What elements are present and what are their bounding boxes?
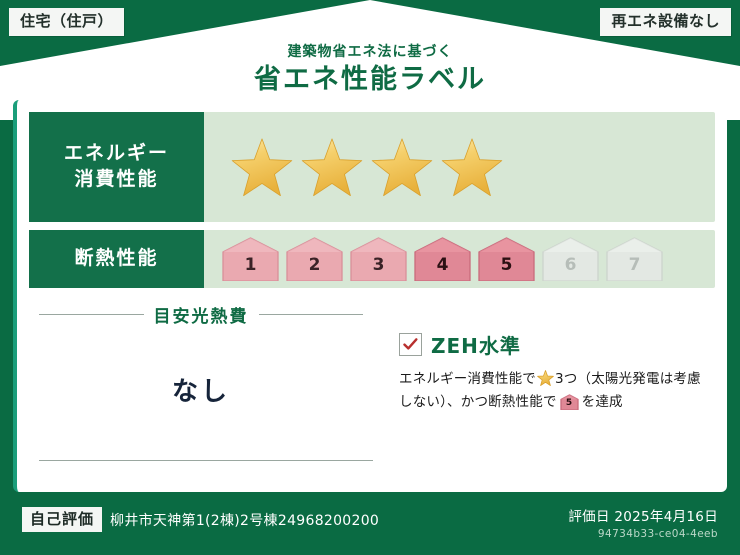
zeh-title: ZEH水準 <box>431 330 521 359</box>
label-footer: 自己評価 柳井市天神第1(2棟)2号棟24968200200 評価日 2025年… <box>0 495 740 555</box>
zeh-header: ZEH水準 <box>399 330 713 359</box>
insulation-performance-label-box: 断熱性能 <box>29 230 204 288</box>
inline-house-number: 5 <box>560 394 579 410</box>
rule-left <box>39 314 144 315</box>
insulation-level-number: 5 <box>501 257 513 281</box>
insulation-performance-row: 断熱性能 1234567 <box>29 230 715 288</box>
footer-left-group: 自己評価 柳井市天神第1(2棟)2号棟24968200200 <box>22 507 379 532</box>
building-type-tag: 住宅（住戸） <box>9 8 124 36</box>
insulation-level-6: 6 <box>542 237 599 281</box>
insulation-performance-value: 1234567 <box>204 230 715 288</box>
insulation-level-number: 6 <box>565 257 577 281</box>
label-heading: 建築物省エネ法に基づく 省エネ性能ラベル <box>0 44 740 95</box>
zeh-description: エネルギー消費性能で3つ（太陽光発電は考慮しない）、かつ断熱性能で5を達成 <box>399 368 713 414</box>
insulation-label-text: 断熱性能 <box>74 246 158 272</box>
insulation-level-scale: 1234567 <box>204 237 663 281</box>
zeh-desc-part4: を達成 <box>582 394 623 410</box>
heading-title: 省エネ性能ラベル <box>0 64 740 95</box>
utility-cost-header: 目安光熱費 <box>17 302 385 327</box>
insulation-level-7: 7 <box>606 237 663 281</box>
zeh-checkbox <box>399 333 422 356</box>
insulation-level-3: 3 <box>350 237 407 281</box>
heading-subtitle: 建築物省エネ法に基づく <box>0 44 740 61</box>
evaluation-id: 94734b33-ce04-4eeb <box>568 528 718 540</box>
insulation-level-1: 1 <box>222 237 279 281</box>
self-evaluation-badge: 自己評価 <box>22 507 102 532</box>
building-name-text: 柳井市天神第1(2棟)2号棟24968200200 <box>110 510 379 530</box>
star-icon <box>370 137 434 198</box>
label-card: エネルギー 消費性能 断熱性能 1234567 目安光熱費 <box>13 100 727 492</box>
insulation-level-2: 2 <box>286 237 343 281</box>
energy-performance-row: エネルギー 消費性能 <box>29 112 715 222</box>
energy-performance-label-box: エネルギー 消費性能 <box>29 112 204 222</box>
star-icon <box>440 137 504 198</box>
utility-cost-title: 目安光熱費 <box>154 302 249 327</box>
energy-label-line2: 消費性能 <box>74 167 158 193</box>
zeh-section: ZEH水準 エネルギー消費性能で3つ（太陽光発電は考慮しない）、かつ断熱性能で5… <box>385 298 727 486</box>
inline-star-icon <box>537 370 554 387</box>
utility-cost-section: 目安光熱費 なし <box>17 298 385 486</box>
insulation-level-4: 4 <box>414 237 471 281</box>
insulation-level-number: 4 <box>437 257 449 281</box>
insulation-level-number: 3 <box>373 257 385 281</box>
utility-cost-value: なし <box>17 371 385 408</box>
zeh-desc-part2: 3つ（太陽光発電 <box>555 371 660 387</box>
zeh-desc-part1: エネルギー消費性能で <box>399 371 536 387</box>
energy-performance-value <box>204 112 715 222</box>
check-icon <box>403 338 418 351</box>
rule-right <box>259 314 364 315</box>
insulation-level-number: 2 <box>309 257 321 281</box>
star-rating <box>204 137 504 198</box>
evaluation-date: 評価日 2025年4月16日 <box>568 505 718 525</box>
energy-label-line1: エネルギー <box>64 141 169 167</box>
insulation-level-number: 1 <box>245 257 257 281</box>
insulation-level-5: 5 <box>478 237 535 281</box>
insulation-level-number: 7 <box>629 257 641 281</box>
energy-performance-label: 住宅（住戸） 再エネ設備なし 建築物省エネ法に基づく 省エネ性能ラベル エネルギ… <box>0 0 740 555</box>
footer-right-group: 評価日 2025年4月16日 94734b33-ce04-4eeb <box>568 505 718 540</box>
lower-section: 目安光熱費 なし ZEH水準 エネルギー消費性能で3つ（太陽光発電は考慮しな <box>17 298 727 486</box>
star-icon <box>230 137 294 198</box>
star-icon <box>300 137 364 198</box>
inline-house-badge-icon: 5 <box>560 394 579 410</box>
renewable-equipment-tag: 再エネ設備なし <box>600 8 731 36</box>
utility-cost-bottom-rule <box>39 460 373 461</box>
